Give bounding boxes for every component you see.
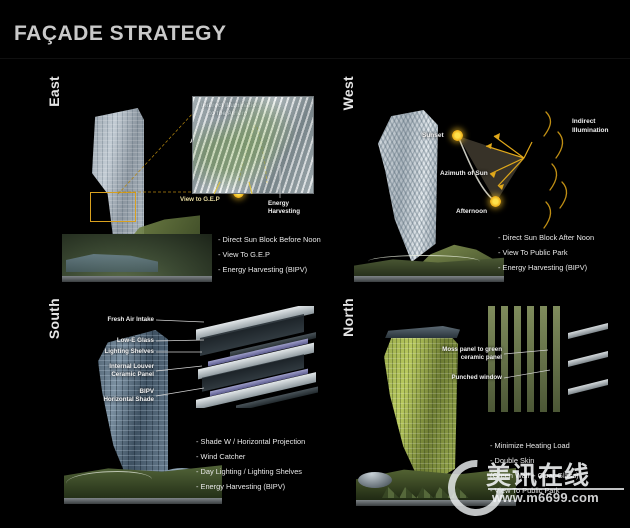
inset-title-line1: Indirect Illumination bbox=[201, 102, 309, 110]
quadrant-south: South Fresh Air Intake bbox=[44, 292, 334, 508]
west-ground-plane bbox=[354, 276, 504, 282]
panel-fin-2 bbox=[501, 306, 508, 412]
south-callout-lighting-shelves: Lighting Shelves bbox=[80, 348, 154, 356]
quadrant-west: West bbox=[338, 70, 628, 288]
west-bullet-list: - Direct Sun Block After Noon - View To … bbox=[498, 230, 594, 275]
south-callout-fresh-air-intake: Fresh Air Intake bbox=[80, 316, 154, 324]
quadrant-north: North Moss panel to green ceramic panel … bbox=[338, 292, 628, 508]
page-title: FAÇADE STRATEGY bbox=[14, 22, 226, 46]
east-ground-plane bbox=[62, 276, 212, 282]
west-site-path bbox=[368, 255, 480, 268]
title-divider bbox=[0, 58, 630, 59]
north-tower-crown bbox=[382, 326, 460, 338]
panel-fin-6 bbox=[553, 306, 560, 412]
north-bullet-3: (Green Wall + Clear Glass) bbox=[490, 468, 579, 483]
south-callout-internal-louver-line1: Internal Louver bbox=[80, 363, 154, 371]
quadrant-east: East Afternoon Sunrise Indirect I bbox=[44, 70, 334, 288]
slide-root: FAÇADE STRATEGY East Afternoon Sunrise bbox=[0, 0, 630, 510]
east-bullet-2: - View To G.E.P bbox=[218, 247, 321, 262]
sun-marker-afternoon-west bbox=[490, 196, 501, 207]
north-facade-panel-detail bbox=[484, 306, 616, 412]
south-bullet-3: - Day Lighting / Lighting Shelves bbox=[196, 464, 305, 479]
sun-label-afternoon-west: Afternoon bbox=[456, 208, 487, 215]
panel-fin-3 bbox=[514, 306, 521, 412]
south-wall-section-detail bbox=[190, 306, 322, 408]
panel-floor-slab-2 bbox=[568, 351, 608, 367]
west-label-indirect-illumination-line2: Illumination bbox=[572, 127, 608, 134]
south-callout-bipv-line2: Horizontal Shade bbox=[80, 396, 154, 404]
sun-marker-sunset bbox=[452, 130, 463, 141]
east-bullet-list: - Direct Sun Block Before Noon - View To… bbox=[218, 232, 321, 277]
south-bullet-1: - Shade W / Horizontal Projection bbox=[196, 434, 305, 449]
panel-floor-slab-3 bbox=[568, 379, 608, 395]
panel-floor-slab-1 bbox=[568, 323, 608, 339]
south-bullet-4: - Energy Harvesting (BIPV) bbox=[196, 479, 305, 494]
east-detail-highlight-box bbox=[90, 192, 136, 222]
east-callout-view-gep: View to G.E.P bbox=[180, 196, 220, 204]
west-label-indirect-illumination-line1: Indirect bbox=[572, 118, 595, 125]
west-sun-diagram: Sunset Afternoon Azimuth of Sun Indirect… bbox=[446, 106, 621, 246]
sun-label-sunset: Sunset bbox=[422, 132, 444, 139]
south-callout-internal-louver-line2: Ceramic Panel bbox=[80, 371, 154, 379]
south-bullet-list: - Shade W / Horizontal Projection - Wind… bbox=[196, 434, 305, 494]
south-bullet-2: - Wind Catcher bbox=[196, 449, 305, 464]
north-bullet-4: - View To Public Park bbox=[490, 483, 579, 498]
east-bullet-1: - Direct Sun Block Before Noon bbox=[218, 232, 321, 247]
north-pavilion bbox=[358, 472, 392, 488]
panel-fin-5 bbox=[540, 306, 547, 412]
north-callout-moss-panel-line1: Moss panel to green bbox=[424, 346, 502, 354]
west-bullet-2: - View To Public Park bbox=[498, 245, 594, 260]
panel-fin-4 bbox=[527, 306, 534, 412]
direction-label-east: East bbox=[46, 76, 62, 107]
south-callout-low-e-glass: Low-E Glass bbox=[80, 337, 154, 345]
north-callout-punched-window: Punched window bbox=[424, 374, 502, 382]
inset-title-line2: to the Atrium bbox=[209, 110, 309, 118]
direction-label-south: South bbox=[46, 298, 62, 339]
direction-label-north: North bbox=[340, 298, 356, 337]
south-ground-plane bbox=[64, 498, 222, 504]
west-bullet-1: - Direct Sun Block After Noon bbox=[498, 230, 594, 245]
north-bullet-2: - Double Skin bbox=[490, 453, 579, 468]
east-facade-detail-inset: Indirect Illumination to the Atrium bbox=[192, 96, 314, 194]
north-bullet-1: - Minimize Heating Load bbox=[490, 438, 579, 453]
north-bullet-list: - Minimize Heating Load - Double Skin (G… bbox=[490, 438, 579, 498]
east-callout-energy-harvesting-line1: Energy bbox=[268, 200, 289, 208]
east-podium bbox=[62, 234, 212, 276]
north-callout-moss-panel-line2: ceramic panel bbox=[424, 354, 502, 362]
east-tower-rendering bbox=[62, 104, 212, 282]
south-callout-bipv-line1: BIPV bbox=[80, 388, 154, 396]
east-bullet-3: - Energy Harvesting (BIPV) bbox=[218, 262, 321, 277]
sun-label-azimuth: Azimuth of Sun bbox=[440, 170, 488, 177]
east-callout-energy-harvesting-line2: Harvesting bbox=[268, 208, 300, 216]
south-site-path bbox=[66, 471, 152, 492]
north-ground-plane bbox=[356, 500, 516, 506]
west-bullet-3: - Energy Harvesting (BIPV) bbox=[498, 260, 594, 275]
